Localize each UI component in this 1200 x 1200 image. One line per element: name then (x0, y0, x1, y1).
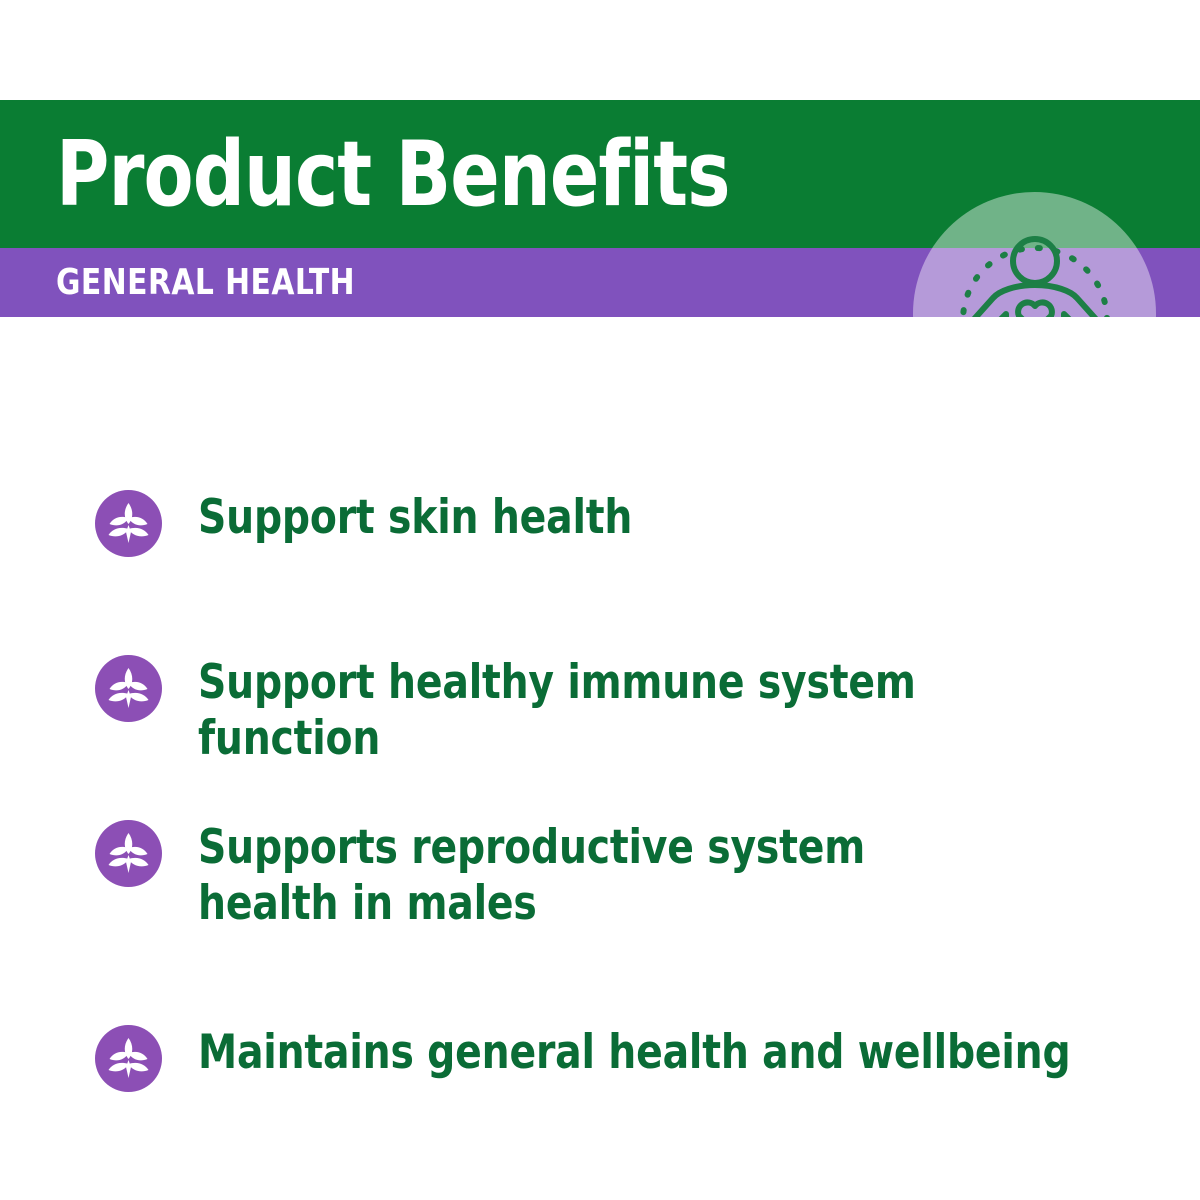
leaf-sprig-icon (95, 490, 162, 557)
header-category-label: GENERAL HEALTH (56, 248, 700, 317)
list-item-label: Support skin health (198, 490, 1088, 546)
leaf-sprig-icon (95, 820, 162, 887)
list-item: Supports reproductive system health in m… (95, 820, 1155, 932)
page-title: Product Benefits (56, 116, 830, 234)
list-item: Support healthy immune system function (95, 655, 1155, 767)
person-with-heart-icon (953, 228, 1117, 317)
list-item: Support skin health (95, 490, 1155, 557)
leaf-sprig-icon (95, 1025, 162, 1092)
leaf-sprig-icon (95, 655, 162, 722)
list-item-label: Maintains general health and wellbeing (198, 1025, 1088, 1081)
product-benefits-card: Product Benefits GENERAL HEALTH (0, 0, 1200, 1200)
header-banner: Product Benefits GENERAL HEALTH (0, 100, 1200, 317)
list-item-label: Support healthy immune system function (198, 655, 1088, 767)
list-item-label: Supports reproductive system health in m… (198, 820, 1088, 932)
list-item: Maintains general health and wellbeing (95, 1025, 1155, 1092)
